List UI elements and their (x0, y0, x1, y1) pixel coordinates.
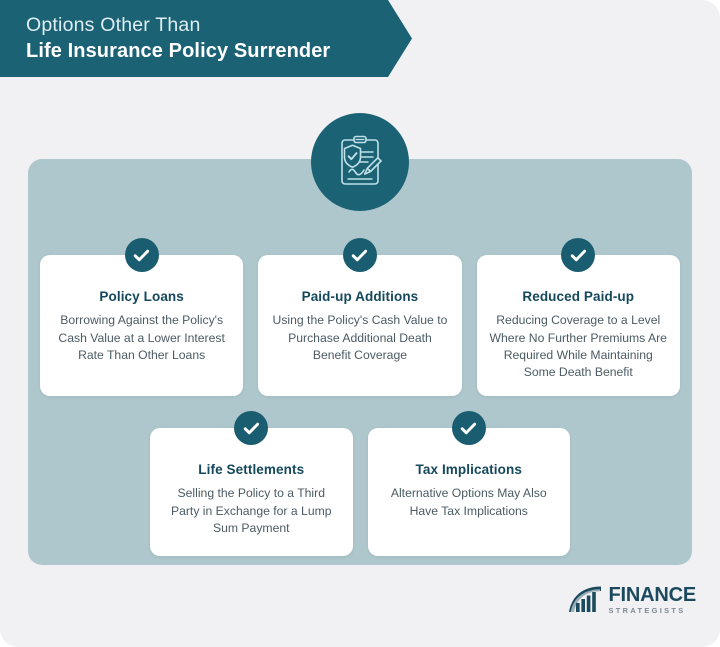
bridge-bars-logo-icon (568, 585, 602, 614)
option-card-title: Reduced Paid-up (489, 289, 668, 305)
check-icon (234, 411, 268, 445)
header-title-line-1: Options Other Than (26, 13, 412, 38)
policy-document-shield-pen-icon (311, 113, 409, 211)
option-card-title: Life Settlements (162, 462, 341, 478)
options-row-top: Policy Loans Borrowing Against the Polic… (40, 255, 680, 396)
footer-logo[interactable]: FINANCE STRATEGISTS (568, 585, 697, 614)
check-icon (452, 411, 486, 445)
option-card-description: Selling the Policy to a Third Party in E… (162, 485, 341, 537)
check-icon (561, 238, 595, 272)
option-card-description: Alternative Options May Also Have Tax Im… (380, 485, 559, 520)
check-icon (125, 238, 159, 272)
option-card-description: Borrowing Against the Policy's Cash Valu… (52, 312, 231, 364)
option-card-title: Policy Loans (52, 289, 231, 305)
option-card-reduced-paid-up[interactable]: Reduced Paid-up Reducing Coverage to a L… (477, 255, 680, 396)
header-banner: Options Other Than Life Insurance Policy… (0, 0, 412, 77)
logo-brand-name: FINANCE (609, 585, 697, 605)
option-card-tax-implications[interactable]: Tax Implications Alternative Options May… (368, 428, 571, 556)
option-card-title: Paid-up Additions (270, 289, 449, 305)
option-card-description: Reducing Coverage to a Level Where No Fu… (489, 312, 668, 381)
option-card-title: Tax Implications (380, 462, 559, 478)
option-card-paid-up-additions[interactable]: Paid-up Additions Using the Policy's Cas… (258, 255, 461, 396)
header-title-line-2: Life Insurance Policy Surrender (26, 39, 412, 65)
option-card-description: Using the Policy's Cash Value to Purchas… (270, 312, 449, 364)
logo-brand-tagline: STRATEGISTS (609, 607, 697, 614)
infographic-canvas: Options Other Than Life Insurance Policy… (0, 0, 720, 647)
option-card-life-settlements[interactable]: Life Settlements Selling the Policy to a… (150, 428, 353, 556)
logo-wordmark: FINANCE STRATEGISTS (609, 585, 697, 614)
check-icon (343, 238, 377, 272)
option-card-policy-loans[interactable]: Policy Loans Borrowing Against the Polic… (40, 255, 243, 396)
options-row-bottom: Life Settlements Selling the Policy to a… (150, 428, 570, 556)
